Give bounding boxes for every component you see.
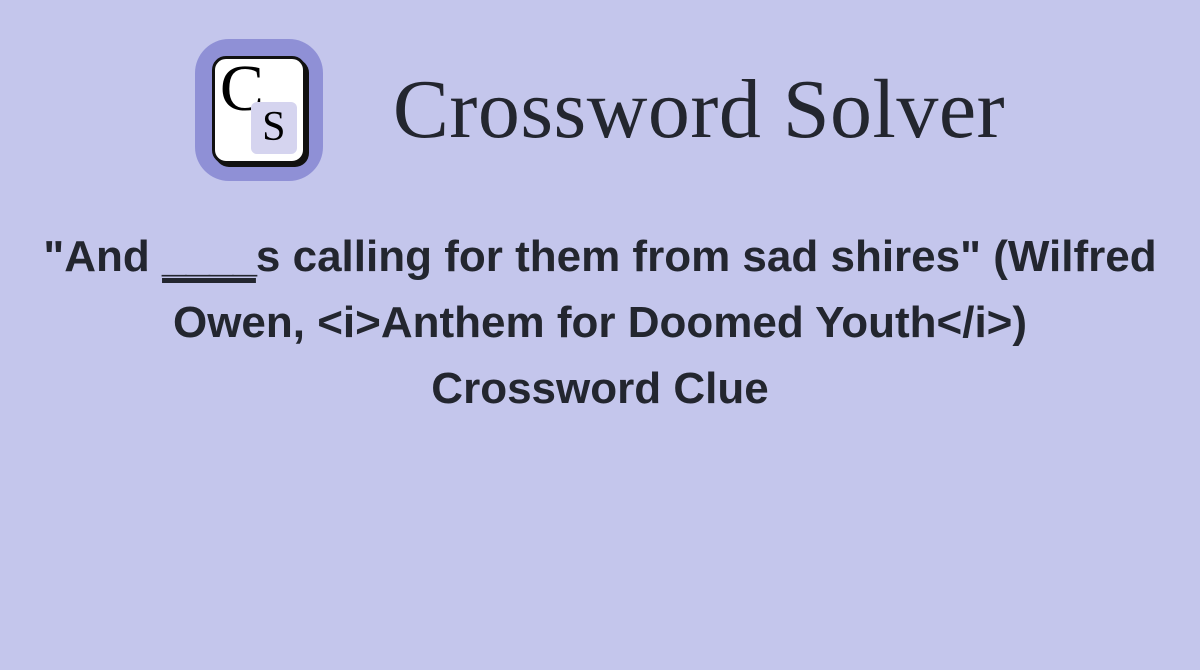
site-header: C S Crossword Solver — [195, 36, 1005, 184]
logo-letter-s-box: S — [251, 102, 297, 154]
clue-block: "And ____s calling for them from sad shi… — [35, 224, 1165, 422]
site-logo[interactable]: C S — [195, 39, 323, 181]
page-title-suffix: Crossword Clue — [35, 356, 1165, 422]
site-title[interactable]: Crossword Solver — [393, 68, 1005, 152]
page-title: "And ____s calling for them from sad shi… — [35, 224, 1165, 356]
clue-text-before-blank: "And — [43, 232, 162, 281]
logo-tile-icon: C S — [212, 56, 306, 164]
logo-letter-s: S — [251, 106, 297, 148]
page-root: C S Crossword Solver "And ____s calling … — [0, 0, 1200, 670]
clue-text-after-blank: s calling for them from sad shires" (Wil… — [173, 232, 1157, 347]
clue-blank: ____ — [162, 232, 256, 281]
